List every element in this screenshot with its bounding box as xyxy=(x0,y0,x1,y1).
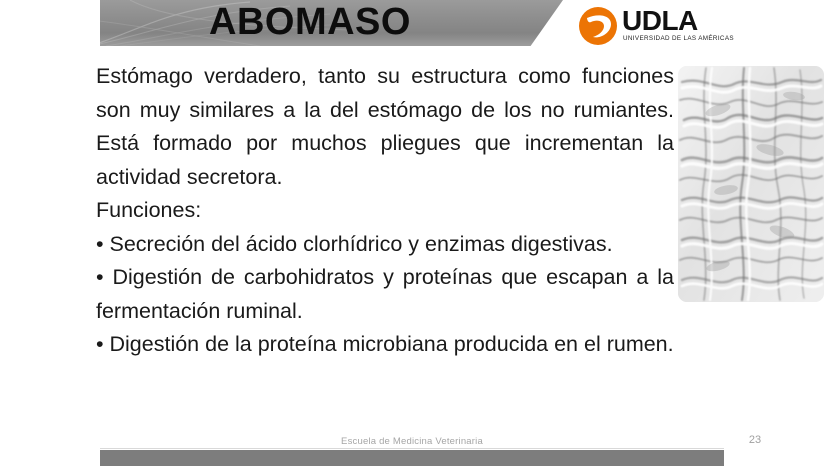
body-paragraph-intro: Estómago verdadero, tanto su estructura … xyxy=(96,60,674,194)
slide-title-banner: ABOMASO xyxy=(100,0,563,46)
footer-school-label: Escuela de Medicina Veterinaria xyxy=(100,436,724,447)
slide-body: Estómago verdadero, tanto su estructura … xyxy=(96,60,674,362)
udla-wordmark: UDLA xyxy=(622,7,698,35)
udla-swoosh-mark-icon xyxy=(578,6,618,46)
footer-divider xyxy=(100,448,724,449)
body-heading-functions: Funciones: xyxy=(96,194,674,228)
mucosa-folds-illustration xyxy=(678,66,824,302)
slide-page-number: 23 xyxy=(740,434,770,446)
footer-bar xyxy=(100,450,724,466)
page-title: ABOMASO xyxy=(100,0,520,46)
body-bullet-3: • Digestión de la proteína microbiana pr… xyxy=(96,328,674,362)
abomasum-mucosa-folds-image xyxy=(678,66,824,302)
body-bullet-2: • Digestión de carbohidratos y proteínas… xyxy=(96,261,674,328)
udla-tagline: UNIVERSIDAD DE LAS AMÉRICAS xyxy=(623,35,734,42)
udla-logo: UDLA UNIVERSIDAD DE LAS AMÉRICAS xyxy=(578,4,720,46)
body-bullet-1: • Secreción del ácido clorhídrico y enzi… xyxy=(96,228,674,262)
